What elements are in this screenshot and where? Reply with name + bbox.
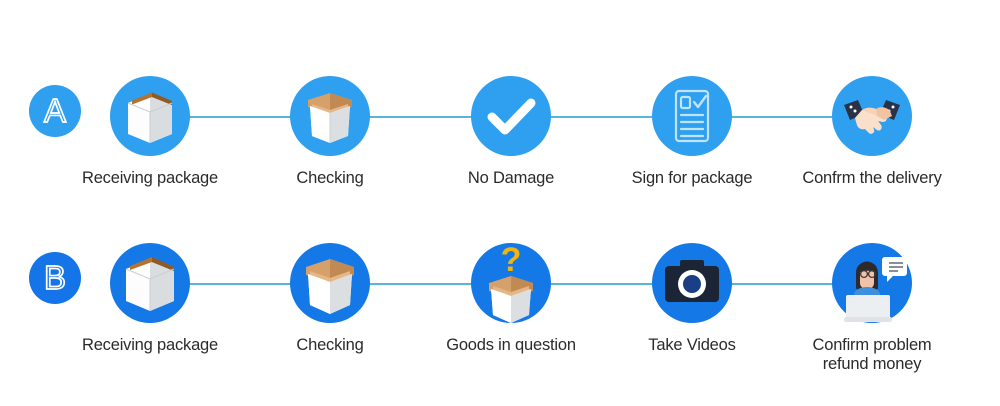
- step-receiving-package-b[interactable]: Receiving package: [70, 222, 230, 355]
- step-confirm-delivery-a[interactable]: Confrm the delivery: [792, 55, 952, 188]
- step-label: Receiving package: [70, 169, 230, 188]
- question-box-icon: ?: [471, 243, 551, 323]
- step-list-row-b: Receiving package Checking: [90, 222, 990, 372]
- step-icon-circle: [652, 76, 732, 156]
- step-label: Confrm the delivery: [792, 169, 952, 188]
- step-label: Confirm problem refund money: [792, 336, 952, 374]
- camera-icon: [652, 243, 732, 323]
- step-take-videos-b[interactable]: Take Videos: [612, 222, 772, 355]
- step-label: Goods in question: [431, 336, 591, 355]
- step-goods-in-question-b[interactable]: ? Goods in question: [431, 222, 591, 355]
- step-label: Checking: [250, 169, 410, 188]
- step-icon-circle: ?: [471, 243, 551, 323]
- step-checking-b[interactable]: Checking: [250, 222, 410, 355]
- step-no-damage-a[interactable]: No Damage: [431, 55, 591, 188]
- process-row-a: A Receiving package: [0, 55, 1000, 205]
- step-icon-circle: [652, 243, 732, 323]
- row-badge-b-letter: B: [44, 261, 66, 296]
- open-box-icon: [290, 243, 370, 323]
- step-checking-a[interactable]: Checking: [250, 55, 410, 188]
- step-icon-circle: [832, 243, 912, 323]
- step-receiving-package-a[interactable]: Receiving package: [70, 55, 230, 188]
- step-icon-circle: [290, 76, 370, 156]
- delivery-process-infographic: A Receiving package: [0, 0, 1000, 406]
- step-label: Receiving package: [70, 336, 230, 355]
- check-circle-icon: [471, 76, 551, 156]
- open-box-icon: [290, 76, 370, 156]
- step-icon-circle: [290, 243, 370, 323]
- closed-box-icon: [110, 243, 190, 323]
- support-agent-icon: [832, 243, 912, 323]
- step-label: Checking: [250, 336, 410, 355]
- step-sign-for-package-a[interactable]: Sign for package: [612, 55, 772, 188]
- handshake-icon: [832, 76, 912, 156]
- step-icon-circle: [471, 76, 551, 156]
- step-label: No Damage: [431, 169, 591, 188]
- svg-text:?: ?: [501, 241, 522, 279]
- process-row-b: B Receiving package: [0, 222, 1000, 372]
- step-list-row-a: Receiving package Checking: [90, 55, 990, 205]
- row-badge-a-letter: A: [44, 94, 66, 129]
- step-icon-circle: [832, 76, 912, 156]
- signed-document-icon: [652, 76, 732, 156]
- step-icon-circle: [110, 76, 190, 156]
- step-icon-circle: [110, 243, 190, 323]
- step-confirm-problem-refund-b[interactable]: Confirm problem refund money: [792, 222, 952, 374]
- closed-box-icon: [110, 76, 190, 156]
- step-label: Take Videos: [612, 336, 772, 355]
- step-label: Sign for package: [612, 169, 772, 188]
